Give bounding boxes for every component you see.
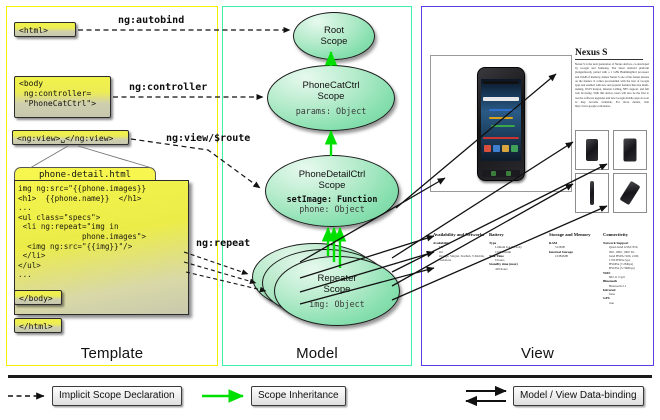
phone-button-bar — [482, 170, 520, 177]
product-description: Nexus S is the next generation of Nexus … — [575, 62, 649, 108]
thumbnail-2[interactable] — [575, 173, 609, 213]
scope-prop-phone: phone: Object — [299, 204, 365, 214]
scope-title-repeater-1: Repeater — [317, 273, 356, 284]
phone-hero-image-frame — [430, 55, 572, 192]
panel-label-model: Model — [223, 345, 411, 362]
scope-title-root-1: Root — [324, 25, 344, 36]
legend: Implicit Scope Declaration Scope Inherit… — [0, 372, 660, 420]
scope-prop-img: img: Object — [309, 299, 364, 309]
label-ng-repeat: ng:repeat — [196, 238, 250, 249]
tag-ngview: <ng:view>␣</ng:view> — [12, 130, 129, 145]
thumbnail-0[interactable] — [575, 130, 609, 170]
diagram-root: Template Model View <html> <body ng:cont… — [0, 0, 660, 420]
legend-label-scope-inheritance: Scope Inheritance — [251, 386, 346, 406]
spec-heading-2: Storage and Memory — [549, 232, 601, 238]
spec-heading-3: Connectivity — [603, 232, 651, 238]
scope-oval-repeater: Repeater Scope img: Object — [274, 256, 400, 326]
spec-value-0-0-2: Orange, Singtel, Starhub, T-Mobile, Voda… — [433, 254, 485, 262]
label-ng-view-route: ng:view/$route — [166, 133, 250, 144]
spec-value-2-1-0: 16384MB — [549, 254, 601, 258]
spec-value-1-2-0: 428 hours — [489, 267, 545, 271]
scope-title-phonecat-2: Scope — [318, 91, 345, 102]
scope-title-phonedetail-2: Scope — [319, 180, 346, 191]
spec-heading-0: Availability and Networks — [433, 232, 485, 238]
scope-oval-phonedetailctrl: PhoneDetailCtrl Scope setImage: Function… — [265, 155, 399, 227]
label-ng-autobind: ng:autobind — [118, 15, 184, 26]
scope-oval-phonecatctrl: PhoneCatCtrl Scope params: Object — [267, 65, 395, 131]
scope-title-phonecat-1: PhoneCatCtrl — [302, 80, 359, 91]
tag-html-close: </html> — [14, 318, 62, 333]
product-title: Nexus S — [575, 48, 607, 58]
scope-prop-setimage: setImage: Function — [287, 194, 378, 204]
thumbnail-1[interactable] — [613, 130, 647, 170]
spec-table: Availability and Networks Availability M… — [427, 232, 649, 347]
code-card-body: img ng:src="{{phone.images}} <h1> {{phon… — [18, 184, 190, 280]
phone-screen — [481, 79, 521, 161]
scope-prop-params: params: Object — [296, 106, 367, 116]
spec-value-3-4-0: true — [603, 301, 651, 305]
scope-title-root-2: Scope — [321, 36, 348, 47]
scope-title-phonedetail-1: PhoneDetailCtrl — [299, 169, 366, 180]
legend-divider — [8, 375, 652, 378]
panel-label-template: Template — [7, 345, 217, 362]
phone-device-illustration — [477, 67, 525, 181]
legend-label-implicit-scope-declaration: Implicit Scope Declaration — [52, 386, 182, 406]
tag-body-close: </body> — [14, 290, 62, 305]
legend-label-data-binding: Model / View Data-binding — [513, 386, 644, 406]
view-rendered-page: Nexus S Nexus S is the next generation o… — [425, 10, 650, 358]
scope-title-repeater-2: Scope — [324, 284, 351, 295]
scope-oval-root: Root Scope — [293, 12, 375, 60]
thumbnail-3[interactable] — [613, 173, 647, 213]
spec-heading-1: Battery — [489, 232, 545, 238]
tag-html-open: <html> — [14, 22, 76, 37]
label-ng-controller: ng:controller — [129, 82, 207, 93]
tag-body-open: <body ng:controller= "PhoneCatCtrl"> — [14, 76, 111, 118]
